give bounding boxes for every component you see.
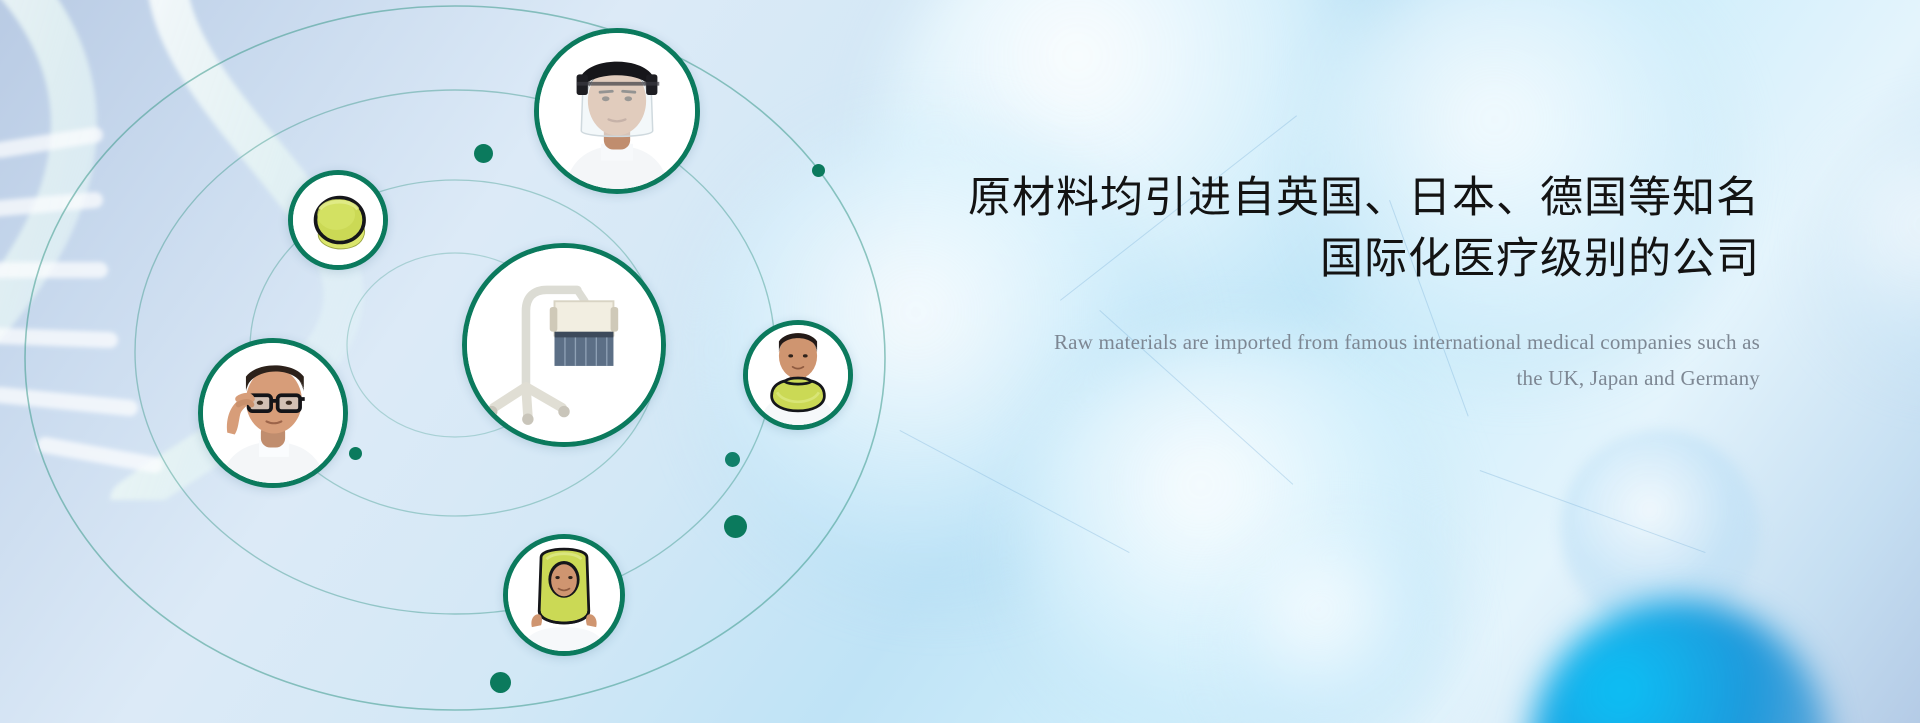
lead-cap-illustration — [293, 175, 383, 265]
orbit-dot-5 — [724, 515, 747, 538]
headline-line-1: 原材料均引进自英国、日本、德国等知名 — [968, 174, 1760, 222]
orbit-dot-6 — [490, 672, 511, 693]
headline: 原材料均引进自英国、日本、德国等知名 国际化医疗级别的公司 — [880, 168, 1760, 290]
subtitle: Raw materials are imported from famous i… — [880, 324, 1760, 396]
hero-copy: 原材料均引进自英国、日本、德国等知名 国际化医疗级别的公司 Raw materi… — [880, 168, 1760, 396]
hero-banner: 原材料均引进自英国、日本、德国等知名 国际化医疗级别的公司 Raw materi… — [0, 0, 1920, 723]
molecule-sphere-7 — [1820, 120, 1920, 380]
orbit-dot-2 — [812, 164, 825, 177]
face-shield-illustration — [539, 33, 695, 189]
node-lead-glasses[interactable] — [198, 338, 348, 488]
node-lead-cap[interactable] — [288, 170, 388, 270]
molecule-bond-4 — [1480, 470, 1706, 553]
orbit-dot-4 — [725, 452, 740, 467]
lead-glasses-illustration — [203, 343, 343, 483]
thyroid-collar-illustration — [748, 325, 848, 425]
lead-hood-illustration — [508, 539, 620, 651]
molecule-sphere-6 — [1560, 430, 1760, 630]
orbit-dot-1 — [474, 144, 493, 163]
node-face-shield[interactable] — [534, 28, 700, 194]
headline-line-2: 国际化医疗级别的公司 — [880, 229, 1760, 290]
molecule-sphere-5 — [1226, 530, 1456, 723]
node-x-ray-screen[interactable] — [462, 243, 666, 447]
x-ray-screen-illustration — [467, 248, 661, 442]
molecule-sphere-accent — [1530, 600, 1830, 723]
node-lead-hood[interactable] — [503, 534, 625, 656]
subtitle-line-2: the UK, Japan and Germany — [880, 360, 1760, 396]
orbit-dot-3 — [349, 447, 362, 460]
subtitle-line-1: Raw materials are imported from famous i… — [1054, 330, 1760, 354]
node-thyroid-collar[interactable] — [743, 320, 853, 430]
